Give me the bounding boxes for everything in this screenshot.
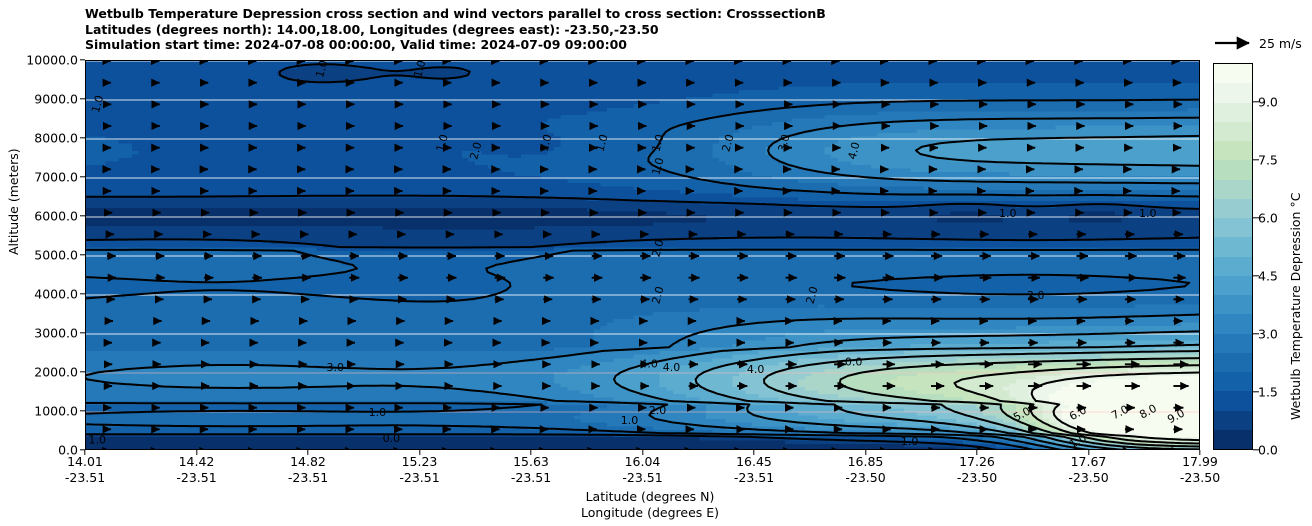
colorbar-tick-mark xyxy=(1253,391,1259,392)
x-axis-tick-mark xyxy=(642,450,643,455)
page-title: Wetbulb Temperature Depression cross sec… xyxy=(85,6,826,53)
contour-label: 2.0 xyxy=(647,403,669,418)
contour-label: 1.0 xyxy=(1137,206,1159,221)
y-axis-tick-label: 6000.0 xyxy=(34,209,78,224)
x-axis-tick-mark xyxy=(530,450,531,455)
colorbar-swatch xyxy=(1214,353,1252,372)
colorbar-swatch xyxy=(1214,391,1252,410)
x-tick-lon: -23.51 xyxy=(511,470,551,486)
colorbar[interactable] xyxy=(1213,63,1253,450)
colorbar-tick-mark xyxy=(1253,217,1259,218)
x-tick-lat: 17.99 xyxy=(1180,454,1220,470)
reference-wind-vector: 25 m/s xyxy=(1207,34,1312,56)
colorbar-tick-label: 4.5 xyxy=(1258,268,1278,283)
x-axis-tick-mark xyxy=(196,450,197,455)
colorbar-swatch xyxy=(1214,83,1252,102)
contour-label: 1.0 xyxy=(87,91,107,116)
title-line-2: Latitudes (degrees north): 14.00,18.00, … xyxy=(85,22,826,38)
y-axis-tick-mark xyxy=(80,254,85,255)
y-axis-tick-label: 5000.0 xyxy=(34,248,78,263)
contour-label: 1.0 xyxy=(997,206,1019,221)
x-axis-tick-mark xyxy=(1199,450,1200,455)
colorbar-label: Wetbulb Temperature Depression °C xyxy=(1288,193,1303,420)
colorbar-swatch xyxy=(1214,199,1252,218)
x-axis-tick-label: 15.23-23.51 xyxy=(399,454,439,486)
x-axis-tick-label: 17.26-23.50 xyxy=(957,454,997,486)
y-axis-tick-mark xyxy=(80,176,85,177)
contour-label: 0.0 xyxy=(843,354,865,369)
contour-label: 1.0 xyxy=(409,61,429,81)
y-axis-tick-mark xyxy=(80,98,85,99)
colorbar-swatch xyxy=(1214,64,1252,83)
x-tick-lat: 17.26 xyxy=(957,454,997,470)
colorbar-tick-label: 0.0 xyxy=(1258,443,1278,458)
colorbar-tick-mark xyxy=(1253,159,1259,160)
y-axis-tick-label: 9000.0 xyxy=(34,92,78,107)
x-tick-lon: -23.51 xyxy=(399,470,439,486)
x-axis-tick-label: 17.99-23.50 xyxy=(1180,454,1220,486)
contour-labels: 1.01.01.01.01.02.01.01.02.01.03.04.02.01… xyxy=(86,61,1199,449)
cross-section-plot[interactable]: 1.01.01.01.01.02.01.01.02.01.03.04.02.01… xyxy=(85,60,1200,450)
x-axis-tick-label: 14.01-23.51 xyxy=(65,454,105,486)
x-axis-tick-mark xyxy=(976,450,977,455)
colorbar-tick-label: 9.0 xyxy=(1258,94,1278,109)
contour-label: 2.0 xyxy=(802,282,822,307)
contour-label: 9.0 xyxy=(1163,404,1189,427)
title-line-3: Simulation start time: 2024-07-08 00:00:… xyxy=(85,37,826,53)
colorbar-tick-mark xyxy=(1253,275,1259,276)
x-axis-tick-label: 16.45-23.51 xyxy=(734,454,774,486)
x-axis-tick-mark xyxy=(753,450,754,455)
contour-label: 4.0 xyxy=(661,360,683,375)
colorbar-swatch xyxy=(1214,276,1252,295)
y-axis-tick-label: 2000.0 xyxy=(34,365,78,380)
colorbar-swatch xyxy=(1214,430,1252,449)
contour-label: 4.0 xyxy=(745,362,767,377)
y-axis-tick-mark xyxy=(80,410,85,411)
x-tick-lat: 15.63 xyxy=(511,454,551,470)
x-axis-tick-mark xyxy=(84,450,85,455)
x-axis-tick-label: 14.82-23.51 xyxy=(288,454,328,486)
contour-label: 7.0 xyxy=(1107,400,1133,423)
contour-label: 6.0 xyxy=(1064,401,1090,424)
y-axis-tick-mark xyxy=(80,215,85,216)
x-tick-lat: 14.82 xyxy=(288,454,328,470)
colorbar-tick-label: 1.5 xyxy=(1258,384,1278,399)
field-container: 1.01.01.01.01.02.01.01.02.01.03.04.02.01… xyxy=(86,61,1199,449)
colorbar-swatch xyxy=(1214,237,1252,256)
y-axis-tick-mark xyxy=(80,371,85,372)
colorbar-swatch xyxy=(1214,411,1252,430)
y-axis-label: Altitude (meters) xyxy=(6,148,21,255)
x-tick-lon: -23.50 xyxy=(1180,470,1220,486)
y-axis-tick-mark xyxy=(80,59,85,60)
contour-label: 2.0 xyxy=(647,236,667,261)
x-axis-tick-mark xyxy=(1088,450,1089,455)
x-tick-lat: 14.01 xyxy=(65,454,105,470)
y-axis-tick-label: 3000.0 xyxy=(34,326,78,341)
contour-label: 1.0 xyxy=(535,130,555,155)
y-axis-tick-label: 8000.0 xyxy=(34,131,78,146)
colorbar-swatch xyxy=(1214,372,1252,391)
colorbar-tick-mark xyxy=(1253,333,1259,334)
y-axis-tick-mark xyxy=(80,137,85,138)
contour-label: 1.0 xyxy=(619,412,641,427)
x-axis-tick-label: 15.63-23.51 xyxy=(511,454,551,486)
contour-label: 1.0 xyxy=(311,61,331,81)
contour-label: 1.0 xyxy=(899,433,921,448)
contour-label: 1.0 xyxy=(366,405,388,420)
x-axis-tick-mark xyxy=(307,450,308,455)
colorbar-swatch xyxy=(1214,160,1252,179)
colorbar-swatch xyxy=(1214,314,1252,333)
y-axis-tick-mark xyxy=(80,293,85,294)
x-tick-lon: -23.51 xyxy=(622,470,662,486)
x-tick-lon: -23.51 xyxy=(734,470,774,486)
contour-label: 2.0 xyxy=(465,138,485,163)
colorbar-tick-label: 3.0 xyxy=(1258,326,1278,341)
contour-label: 0.0 xyxy=(380,431,402,446)
contour-label: 4.0 xyxy=(844,138,864,163)
x-tick-lat: 16.45 xyxy=(734,454,774,470)
x-tick-lat: 14.42 xyxy=(176,454,216,470)
x-tick-lon: -23.50 xyxy=(845,470,885,486)
contour-label: 2.0 xyxy=(647,282,667,307)
y-axis-tick-label: 7000.0 xyxy=(34,170,78,185)
contour-label: 1.0 xyxy=(432,130,452,155)
contour-label: 1.0 xyxy=(591,130,611,155)
title-line-1: Wetbulb Temperature Depression cross sec… xyxy=(85,6,826,22)
colorbar-swatch xyxy=(1214,295,1252,314)
contour-label: 2.0 xyxy=(1025,288,1047,303)
x-axis-label-longitude: Longitude (degrees E) xyxy=(300,505,1000,520)
x-tick-lat: 15.23 xyxy=(399,454,439,470)
x-axis-tick-label: 17.67-23.50 xyxy=(1068,454,1108,486)
x-tick-lon: -23.51 xyxy=(65,470,105,486)
x-tick-lon: -23.50 xyxy=(1068,470,1108,486)
colorbar-swatch xyxy=(1214,103,1252,122)
y-axis-tick-mark xyxy=(80,332,85,333)
x-axis-tick-mark xyxy=(865,450,866,455)
contour-label: 1.0 xyxy=(86,432,108,447)
colorbar-swatch xyxy=(1214,122,1252,141)
contour-label: 1.0 xyxy=(1064,429,1090,449)
contour-label: 4.0 xyxy=(638,356,660,371)
x-tick-lon: -23.50 xyxy=(957,470,997,486)
x-tick-lon: -23.51 xyxy=(288,470,328,486)
x-tick-lat: 16.04 xyxy=(622,454,662,470)
contour-label: 1.0 xyxy=(647,130,667,155)
colorbar-tick-mark xyxy=(1253,101,1259,102)
colorbar-swatch xyxy=(1214,218,1252,237)
x-tick-lon: -23.51 xyxy=(176,470,216,486)
colorbar-tick-mark xyxy=(1253,449,1259,450)
y-axis-ticks: 0.01000.02000.03000.04000.05000.06000.07… xyxy=(0,60,78,450)
x-axis-label-latitude: Latitude (degrees N) xyxy=(300,489,1000,504)
contour-label: 5.0 xyxy=(1008,402,1034,425)
y-axis-tick-label: 10000.0 xyxy=(26,53,78,68)
contour-label: 8.0 xyxy=(1135,399,1161,422)
x-axis-tick-label: 16.85-23.50 xyxy=(845,454,885,486)
colorbar-tick-label: 6.0 xyxy=(1258,210,1278,225)
x-axis-tick-label: 16.04-23.51 xyxy=(622,454,662,486)
contour-label: 3.0 xyxy=(324,360,346,375)
x-axis-tick-mark xyxy=(419,450,420,455)
x-tick-lat: 17.67 xyxy=(1068,454,1108,470)
contour-label: 3.0 xyxy=(774,130,794,155)
reference-vector-label: 25 m/s xyxy=(1259,36,1302,51)
x-tick-lat: 16.85 xyxy=(845,454,885,470)
colorbar-swatch xyxy=(1214,334,1252,353)
colorbar-swatch xyxy=(1214,180,1252,199)
colorbar-tick-label: 7.5 xyxy=(1258,152,1278,167)
colorbar-swatch xyxy=(1214,257,1252,276)
contour-label: 2.0 xyxy=(717,130,737,155)
colorbar-swatch xyxy=(1214,141,1252,160)
x-axis-tick-label: 14.42-23.51 xyxy=(176,454,216,486)
y-axis-tick-label: 1000.0 xyxy=(34,404,78,419)
contour-label: 1.0 xyxy=(647,154,667,179)
y-axis-tick-label: 4000.0 xyxy=(34,287,78,302)
